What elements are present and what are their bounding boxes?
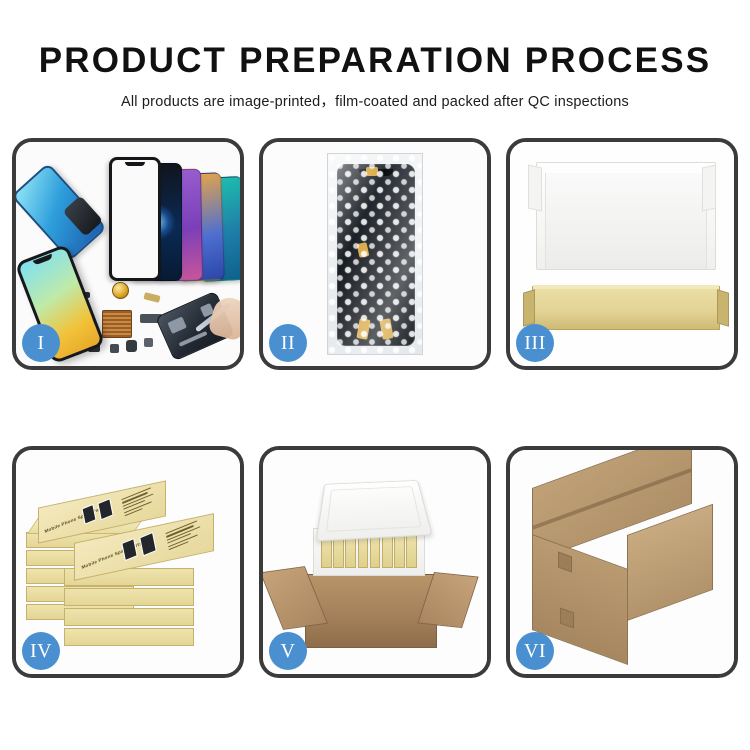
step-panel-5: V [259, 446, 491, 678]
step-badge-1: I [22, 324, 60, 362]
retail-box [64, 628, 194, 646]
styrofoam-lid-icon [316, 480, 433, 541]
lid-flap-left-icon [528, 165, 542, 212]
open-carton-icon [305, 574, 437, 648]
bubble-wrap-package [327, 153, 423, 355]
box-window-icon [139, 532, 157, 556]
step-badge-4: IV [22, 632, 60, 670]
step-panel-2: II [259, 138, 491, 370]
white-box-lid-icon [536, 162, 716, 270]
part-icon [110, 344, 119, 353]
box-spec-lines [165, 518, 206, 552]
yellow-box-tray-icon [532, 286, 720, 330]
step-badge-3: III [516, 324, 554, 362]
step-badge-2: II [269, 324, 307, 362]
carton-flap-right-icon [417, 572, 478, 628]
box-stack: Mobile Phone Spare Parts Mobile P [26, 478, 236, 658]
sealed-carton-icon [532, 488, 714, 636]
part-icon [143, 292, 160, 303]
screen-fan-group [128, 156, 240, 281]
box-window-icon [81, 504, 96, 525]
infographic-page: PRODUCT PREPARATION PROCESS All products… [0, 0, 750, 750]
step-panel-1: I [12, 138, 244, 370]
header: PRODUCT PREPARATION PROCESS All products… [0, 0, 750, 111]
step-badge-6: VI [516, 632, 554, 670]
step-panel-4: Mobile Phone Spare Parts Mobile P [12, 446, 244, 678]
process-steps-grid: I II [12, 138, 738, 678]
gold-component-icon [112, 282, 129, 299]
page-title: PRODUCT PREPARATION PROCESS [0, 41, 750, 81]
box-window-icon [121, 538, 137, 561]
step-panel-6: VI [506, 446, 738, 678]
retail-box [64, 608, 194, 626]
notch-icon [125, 162, 145, 166]
step-panel-3: III [506, 138, 738, 370]
retail-box [64, 588, 194, 606]
step-badge-5: V [269, 632, 307, 670]
lid-flap-right-icon [702, 165, 716, 212]
box-spec-lines [121, 486, 158, 519]
part-icon [126, 340, 137, 352]
part-icon [144, 338, 153, 347]
plastic-sheen [328, 154, 422, 354]
box-window-icon [97, 498, 113, 520]
page-subtitle: All products are image-printed，film-coat… [0, 90, 750, 111]
copper-chip-grid-icon [102, 310, 132, 338]
white-screen-icon [109, 157, 161, 281]
